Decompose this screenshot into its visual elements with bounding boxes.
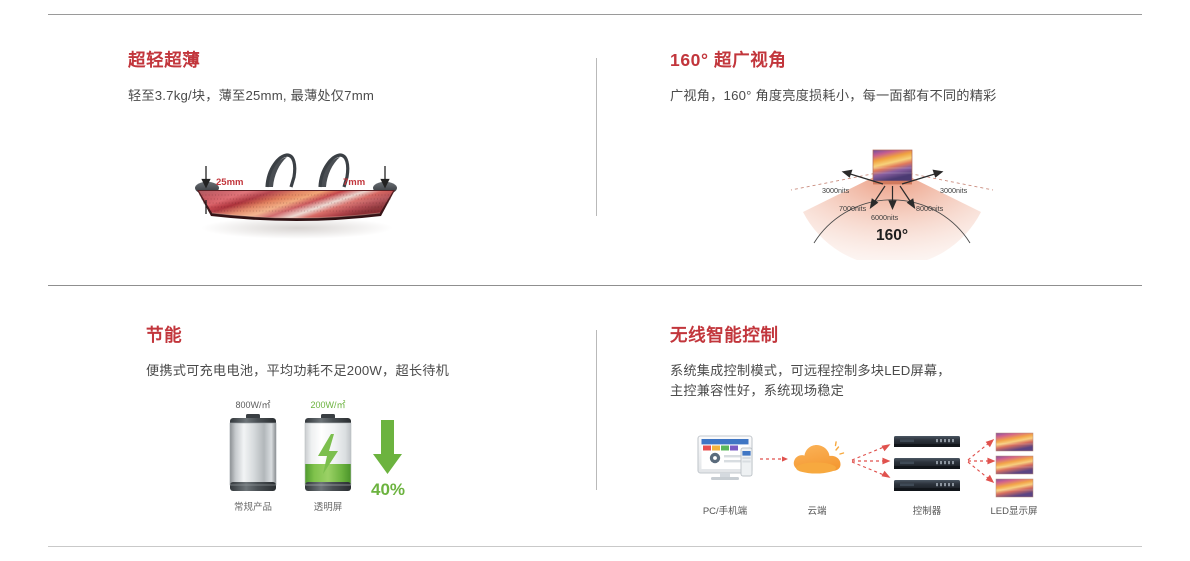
feature-description-line-2: 主控兼容性好，系统现场稳定: [670, 381, 1120, 401]
divider-top: [48, 14, 1142, 15]
viewing-angle-figure: 3000nits 7000nits 6000nits 8000nits 3000…: [785, 148, 1000, 260]
power-label-transparent: 200W/㎡: [310, 400, 345, 410]
feature-wireless-smart-control: 无线智能控制 系统集成控制模式，可远程控制多块LED屏幕， 主控兼容性好，系统现…: [670, 325, 1120, 402]
nits-label-left: 7000nits: [839, 204, 867, 213]
nits-label-right-outer: 3000nits: [940, 186, 968, 195]
feature-wide-viewing-angle: 160° 超广视角 广视角，160° 角度亮度损耗小，每一面都有不同的精彩: [670, 50, 1130, 106]
node-label-cloud: 云端: [807, 505, 827, 517]
nits-label-right: 8000nits: [916, 204, 944, 213]
node-label-led-screen: LED显示屏: [991, 506, 1038, 517]
battery-caption-standard: 常规产品: [234, 501, 272, 513]
node-label-controller: 控制器: [913, 505, 942, 517]
desktop-phone-icon: [698, 436, 752, 480]
dimension-label-7mm: 7mm: [343, 177, 365, 188]
control-chain-figure: PC/手机端 云端 控制器 LED显示屏: [686, 428, 1038, 518]
battery-caption-transparent: 透明屏: [314, 502, 343, 513]
feature-title: 无线智能控制: [670, 325, 1120, 347]
divider-middle: [48, 285, 1142, 286]
feature-title: 160° 超广视角: [670, 50, 1130, 72]
feature-description: 广视角，160° 角度亮度损耗小，每一面都有不同的精彩: [670, 86, 1130, 106]
battery-transparent: [305, 414, 351, 491]
nits-label-center: 6000nits: [871, 213, 899, 222]
power-label-standard: 800W/㎡: [235, 400, 270, 410]
node-label-pc-phone: PC/手机端: [703, 505, 748, 517]
feature-ultra-light-thin: 超轻超薄 轻至3.7kg/块，薄至25mm, 最薄处仅7mm: [128, 50, 568, 106]
feature-description: 轻至3.7kg/块，薄至25mm, 最薄处仅7mm: [128, 86, 568, 106]
feature-title: 超轻超薄: [128, 50, 568, 72]
reduction-value: 40%: [371, 480, 405, 499]
feature-description: 便携式可充电电池，平均功耗不足200W，超长待机: [146, 361, 576, 381]
led-panel-side-view-figure: 25mm 7mm: [175, 138, 415, 243]
connector-arrow-2: [852, 445, 889, 477]
feature-energy-saving: 节能 便携式可充电电池，平均功耗不足200W，超长待机: [146, 325, 576, 381]
feature-description-line-1: 系统集成控制模式，可远程控制多块LED屏幕，: [670, 361, 1120, 381]
divider-vertical-bottom: [596, 330, 597, 490]
connector-arrow-3: [968, 440, 994, 482]
cloud-icon: [794, 442, 844, 474]
connector-arrow-1: [760, 456, 788, 461]
divider-bottom: [48, 546, 1142, 547]
reduction-indicator: 40%: [371, 420, 405, 499]
battery-comparison-figure: 800W/㎡ 200W/㎡: [205, 398, 435, 520]
led-screen-icon: [996, 433, 1033, 497]
product-feature-sheet: 超轻超薄 轻至3.7kg/块，薄至25mm, 最薄处仅7mm: [0, 0, 1190, 561]
divider-vertical-top: [596, 58, 597, 216]
dimension-label-25mm: 25mm: [216, 177, 243, 188]
battery-standard: [230, 414, 276, 491]
nits-label-left-outer: 3000nits: [822, 186, 850, 195]
viewing-angle-value: 160°: [876, 227, 908, 244]
feature-title: 节能: [146, 325, 576, 347]
controller-rack-icon: [894, 436, 960, 491]
